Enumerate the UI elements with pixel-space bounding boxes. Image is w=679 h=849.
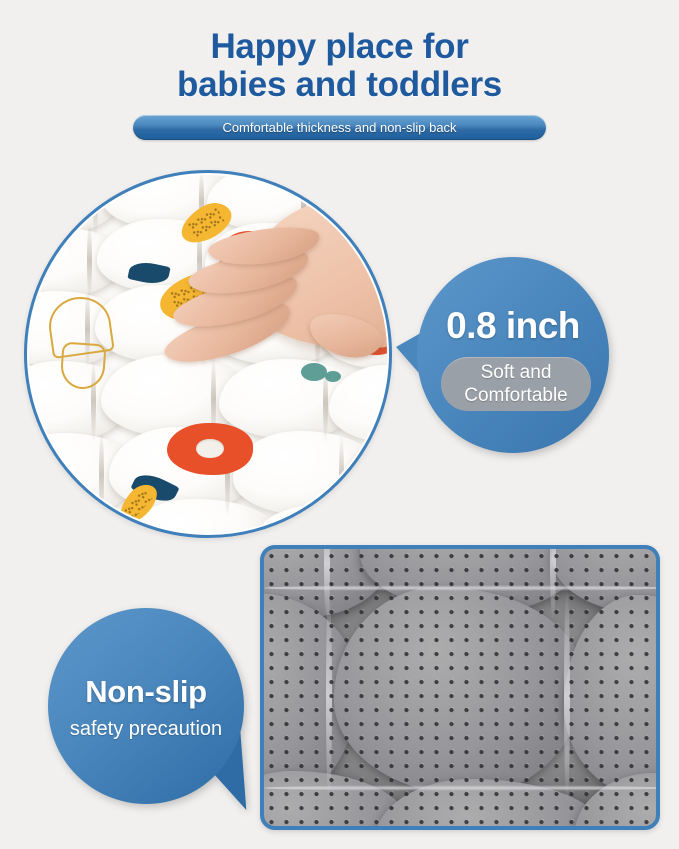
nonslip-title: Non-slip	[48, 674, 244, 710]
callout-body	[417, 257, 609, 453]
nonslip-photo-image	[264, 549, 656, 826]
header-section: Happy place for babies and toddlers Comf…	[0, 0, 679, 150]
page-title-line-1: Happy place for	[0, 28, 679, 66]
thickness-photo-circle	[24, 170, 392, 538]
nonslip-silicone-dots	[264, 549, 656, 826]
page-title-line-2: babies and toddlers	[0, 66, 679, 104]
pill-line-1: Soft and	[481, 361, 552, 384]
nonslip-callout-bubble: Non-slip safety precaution	[48, 608, 288, 814]
thickness-photo-image	[29, 175, 387, 533]
thickness-callout-bubble: 0.8 inch Soft and Comfortable	[396, 257, 609, 453]
soft-comfortable-pill: Soft and Comfortable	[441, 357, 591, 411]
pill-line-2: Comfortable	[464, 384, 568, 407]
subtitle-banner: Comfortable thickness and non-slip back	[133, 115, 546, 140]
subtitle-text: Comfortable thickness and non-slip back	[222, 120, 456, 135]
nonslip-subtitle: safety precaution	[46, 718, 246, 741]
thickness-value: 0.8 inch	[417, 305, 609, 347]
hand-pressing-pad	[149, 191, 387, 441]
nonslip-photo-panel	[260, 545, 660, 830]
